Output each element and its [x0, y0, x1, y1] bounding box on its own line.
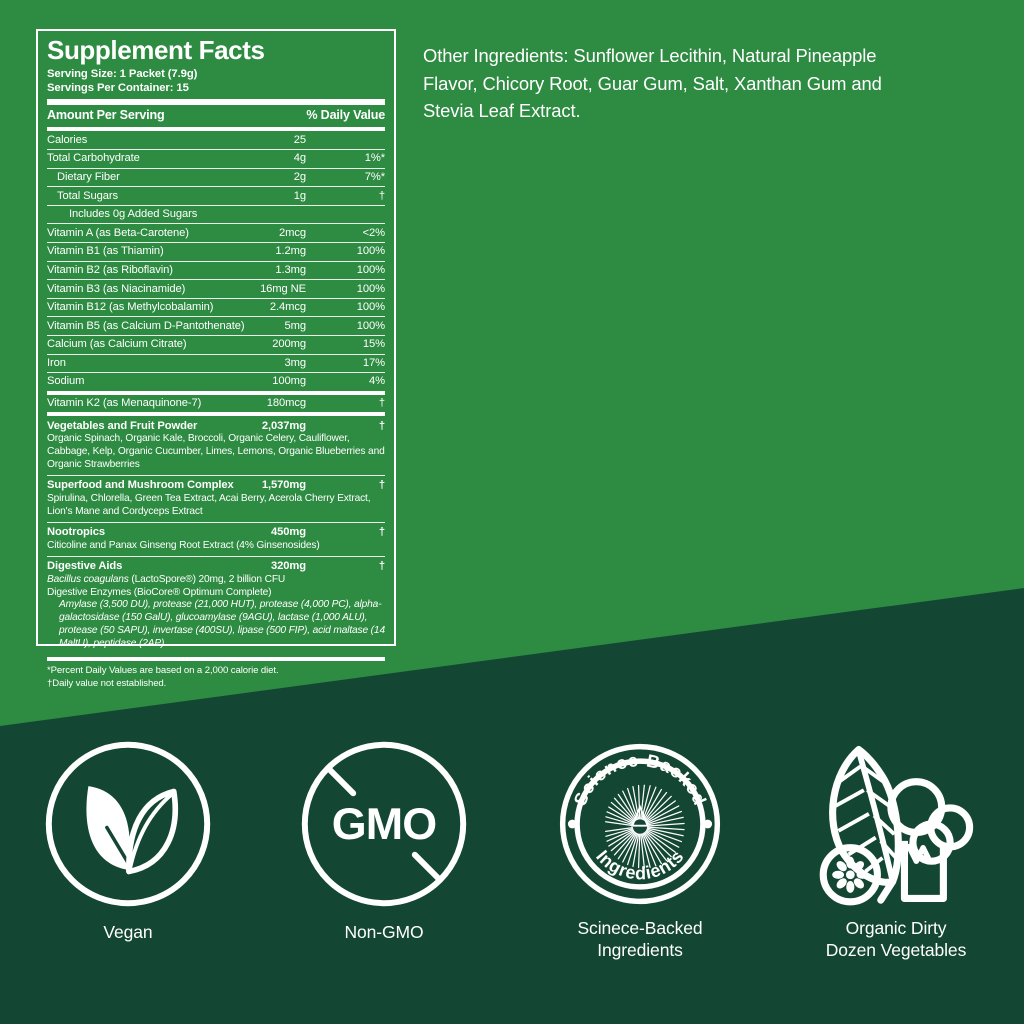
blend-daily-value: † — [311, 560, 385, 573]
row-daily-value: 100% — [311, 246, 385, 257]
row-amount: 2g — [47, 172, 306, 183]
row-amount: 1g — [47, 191, 306, 202]
row-amount: 2.4mcg — [47, 302, 306, 313]
table-row: Calories25 — [47, 131, 385, 150]
supplement-facts-panel: Supplement Facts Serving Size: 1 Packet … — [36, 29, 396, 646]
blend-header: Nootropics450mg† — [47, 526, 385, 539]
row-amount: 100mg — [47, 376, 306, 387]
gmo-text: GMO — [332, 798, 437, 849]
row-daily-value: 100% — [311, 284, 385, 295]
blend-amount: 2,037mg — [47, 420, 306, 433]
vegan-icon-art — [40, 735, 216, 913]
badge-organic-dirty-dozen: Organic DirtyDozen Vegetables — [768, 735, 1024, 995]
badge-science-backed: Science-Backed Ingredients Scinece-Backe… — [512, 735, 768, 995]
table-row: Includes 0g Added Sugars — [47, 206, 385, 225]
blend-header: Superfood and Mushroom Complex1,570mg† — [47, 479, 385, 492]
badge-label: Non-GMO — [344, 921, 423, 943]
digestive-line-2: Digestive Enzymes (BioCore® Optimum Comp… — [47, 587, 385, 600]
serving-size: Serving Size: 1 Packet (7.9g) — [47, 67, 385, 81]
row-amount: 1.2mg — [47, 246, 306, 257]
blend-blocks: Vegetables and Fruit Powder2,037mg†Organ… — [47, 416, 385, 556]
row-daily-value: 17% — [311, 358, 385, 369]
blend-digestive-aids: Digestive Aids 320mg † Bacillus coagulan… — [47, 557, 385, 654]
row-daily-value: † — [311, 398, 385, 409]
footnote-daily-value: †Daily value not established. — [47, 678, 385, 691]
no-gmo-circle-icon: GMO — [296, 736, 472, 912]
row-daily-value: † — [311, 191, 385, 202]
badge-non-gmo: GMO Non-GMO — [256, 735, 512, 995]
blend-body: Spirulina, Chlorella, Green Tea Extract,… — [47, 493, 385, 518]
organic-veg-icon-art — [808, 735, 984, 913]
servings-per-container: Servings Per Container: 15 — [47, 81, 385, 95]
blend-amount: 450mg — [47, 526, 306, 539]
row-amount: 4g — [47, 153, 306, 164]
row-amount: 1.3mg — [47, 265, 306, 276]
table-row: Calcium (as Calcium Citrate)200mg15% — [47, 336, 385, 355]
blend-amount: 1,570mg — [47, 479, 306, 492]
badge-label: Scinece-BackedIngredients — [577, 917, 702, 961]
row-daily-value: 100% — [311, 302, 385, 313]
row-daily-value: 15% — [311, 339, 385, 350]
digestive-enzymes-list: Amylase (3,500 DU), protease (21,000 HUT… — [47, 599, 385, 650]
blend-header: Vegetables and Fruit Powder2,037mg† — [47, 420, 385, 433]
row-amount: 200mg — [47, 339, 306, 350]
digestive-line-1: Bacillus coagulans (LactoSpore®) 20mg, 2… — [47, 574, 385, 587]
blend-body: Organic Spinach, Organic Kale, Broccoli,… — [47, 433, 385, 471]
other-ingredients-text: Other Ingredients: Sunflower Lecithin, N… — [423, 42, 923, 125]
table-row: Sodium100mg4% — [47, 373, 385, 391]
row-daily-value: <2% — [311, 228, 385, 239]
row-amount: 180mcg — [47, 398, 306, 409]
table-row-vitamin-k2: Vitamin K2 (as Menaquinone-7) 180mcg † — [47, 395, 385, 413]
blend-daily-value: † — [311, 526, 385, 539]
table-row: Vitamin B2 (as Riboflavin)1.3mg100% — [47, 262, 385, 281]
leaf-broccoli-citrus-icon — [808, 739, 984, 909]
blend-header: Digestive Aids 320mg † — [47, 560, 385, 573]
row-amount: 16mg NE — [47, 284, 306, 295]
blend-daily-value: † — [311, 479, 385, 492]
two-leaves-circle-icon — [40, 736, 216, 912]
row-amount: 2mcg — [47, 228, 306, 239]
bacillus-coagulans-italic: Bacillus coagulans — [47, 574, 129, 585]
badge-label: Organic DirtyDozen Vegetables — [826, 917, 966, 961]
seal-top-text: Science-Backed — [570, 750, 710, 808]
row-daily-value: 100% — [311, 321, 385, 332]
row-daily-value: 4% — [311, 376, 385, 387]
table-row: Vitamin A (as Beta-Carotene)2mcg<2% — [47, 224, 385, 243]
supplement-facts-title: Supplement Facts — [47, 37, 385, 64]
table-row: Vitamin B5 (as Calcium D-Pantothenate)5m… — [47, 317, 385, 336]
badge-row: Vegan GMO Non-GMO — [0, 735, 1024, 995]
badge-vegan: Vegan — [0, 735, 256, 995]
citrus-segments-icon — [832, 857, 868, 893]
blend-daily-value: † — [311, 420, 385, 433]
nutrient-rows: Calories25Total Carbohydrate4g1%*Dietary… — [47, 131, 385, 390]
row-daily-value: 100% — [311, 265, 385, 276]
table-row: Vitamin B1 (as Thiamin)1.2mg100% — [47, 243, 385, 262]
row-label: Includes 0g Added Sugars — [47, 209, 385, 220]
table-row: Vitamin B3 (as Niacinamide)16mg NE100% — [47, 280, 385, 299]
badge-label: Vegan — [103, 921, 152, 943]
footnotes: *Percent Daily Values are based on a 2,0… — [47, 661, 385, 691]
table-row: Iron3mg17% — [47, 355, 385, 374]
row-amount: 3mg — [47, 358, 306, 369]
row-amount: 5mg — [47, 321, 306, 332]
blend-block: Superfood and Mushroom Complex1,570mg†Sp… — [47, 476, 385, 523]
table-row: Vitamin B12 (as Methylcobalamin)2.4mcg10… — [47, 299, 385, 318]
science-backed-seal-icon: Science-Backed Ingredients — [555, 739, 725, 909]
footnote-percent-dv: *Percent Daily Values are based on a 2,0… — [47, 665, 385, 678]
science-backed-icon-art: Science-Backed Ingredients — [555, 735, 725, 913]
blend-block: Nootropics450mg†Citicoline and Panax Gin… — [47, 523, 385, 557]
amount-per-serving-header: Amount Per Serving — [47, 108, 164, 122]
digestive-body: Bacillus coagulans (LactoSpore®) 20mg, 2… — [47, 574, 385, 651]
table-row: Total Carbohydrate4g1%* — [47, 150, 385, 169]
blend-body: Citicoline and Panax Ginseng Root Extrac… — [47, 540, 385, 553]
row-daily-value: 7%* — [311, 172, 385, 183]
table-row: Dietary Fiber2g7%* — [47, 169, 385, 188]
bacillus-coagulans-rest: (LactoSpore®) 20mg, 2 billion CFU — [129, 574, 285, 585]
table-column-headers: Amount Per Serving % Daily Value — [47, 105, 385, 124]
daily-value-header: % Daily Value — [306, 108, 385, 122]
row-daily-value: 1%* — [311, 153, 385, 164]
row-amount: 25 — [47, 135, 306, 146]
blend-amount: 320mg — [47, 560, 306, 573]
non-gmo-icon-art: GMO — [296, 735, 472, 913]
blend-block: Vegetables and Fruit Powder2,037mg†Organ… — [47, 416, 385, 475]
svg-text:Science-Backed: Science-Backed — [570, 750, 710, 808]
table-row: Total Sugars1g† — [47, 187, 385, 206]
